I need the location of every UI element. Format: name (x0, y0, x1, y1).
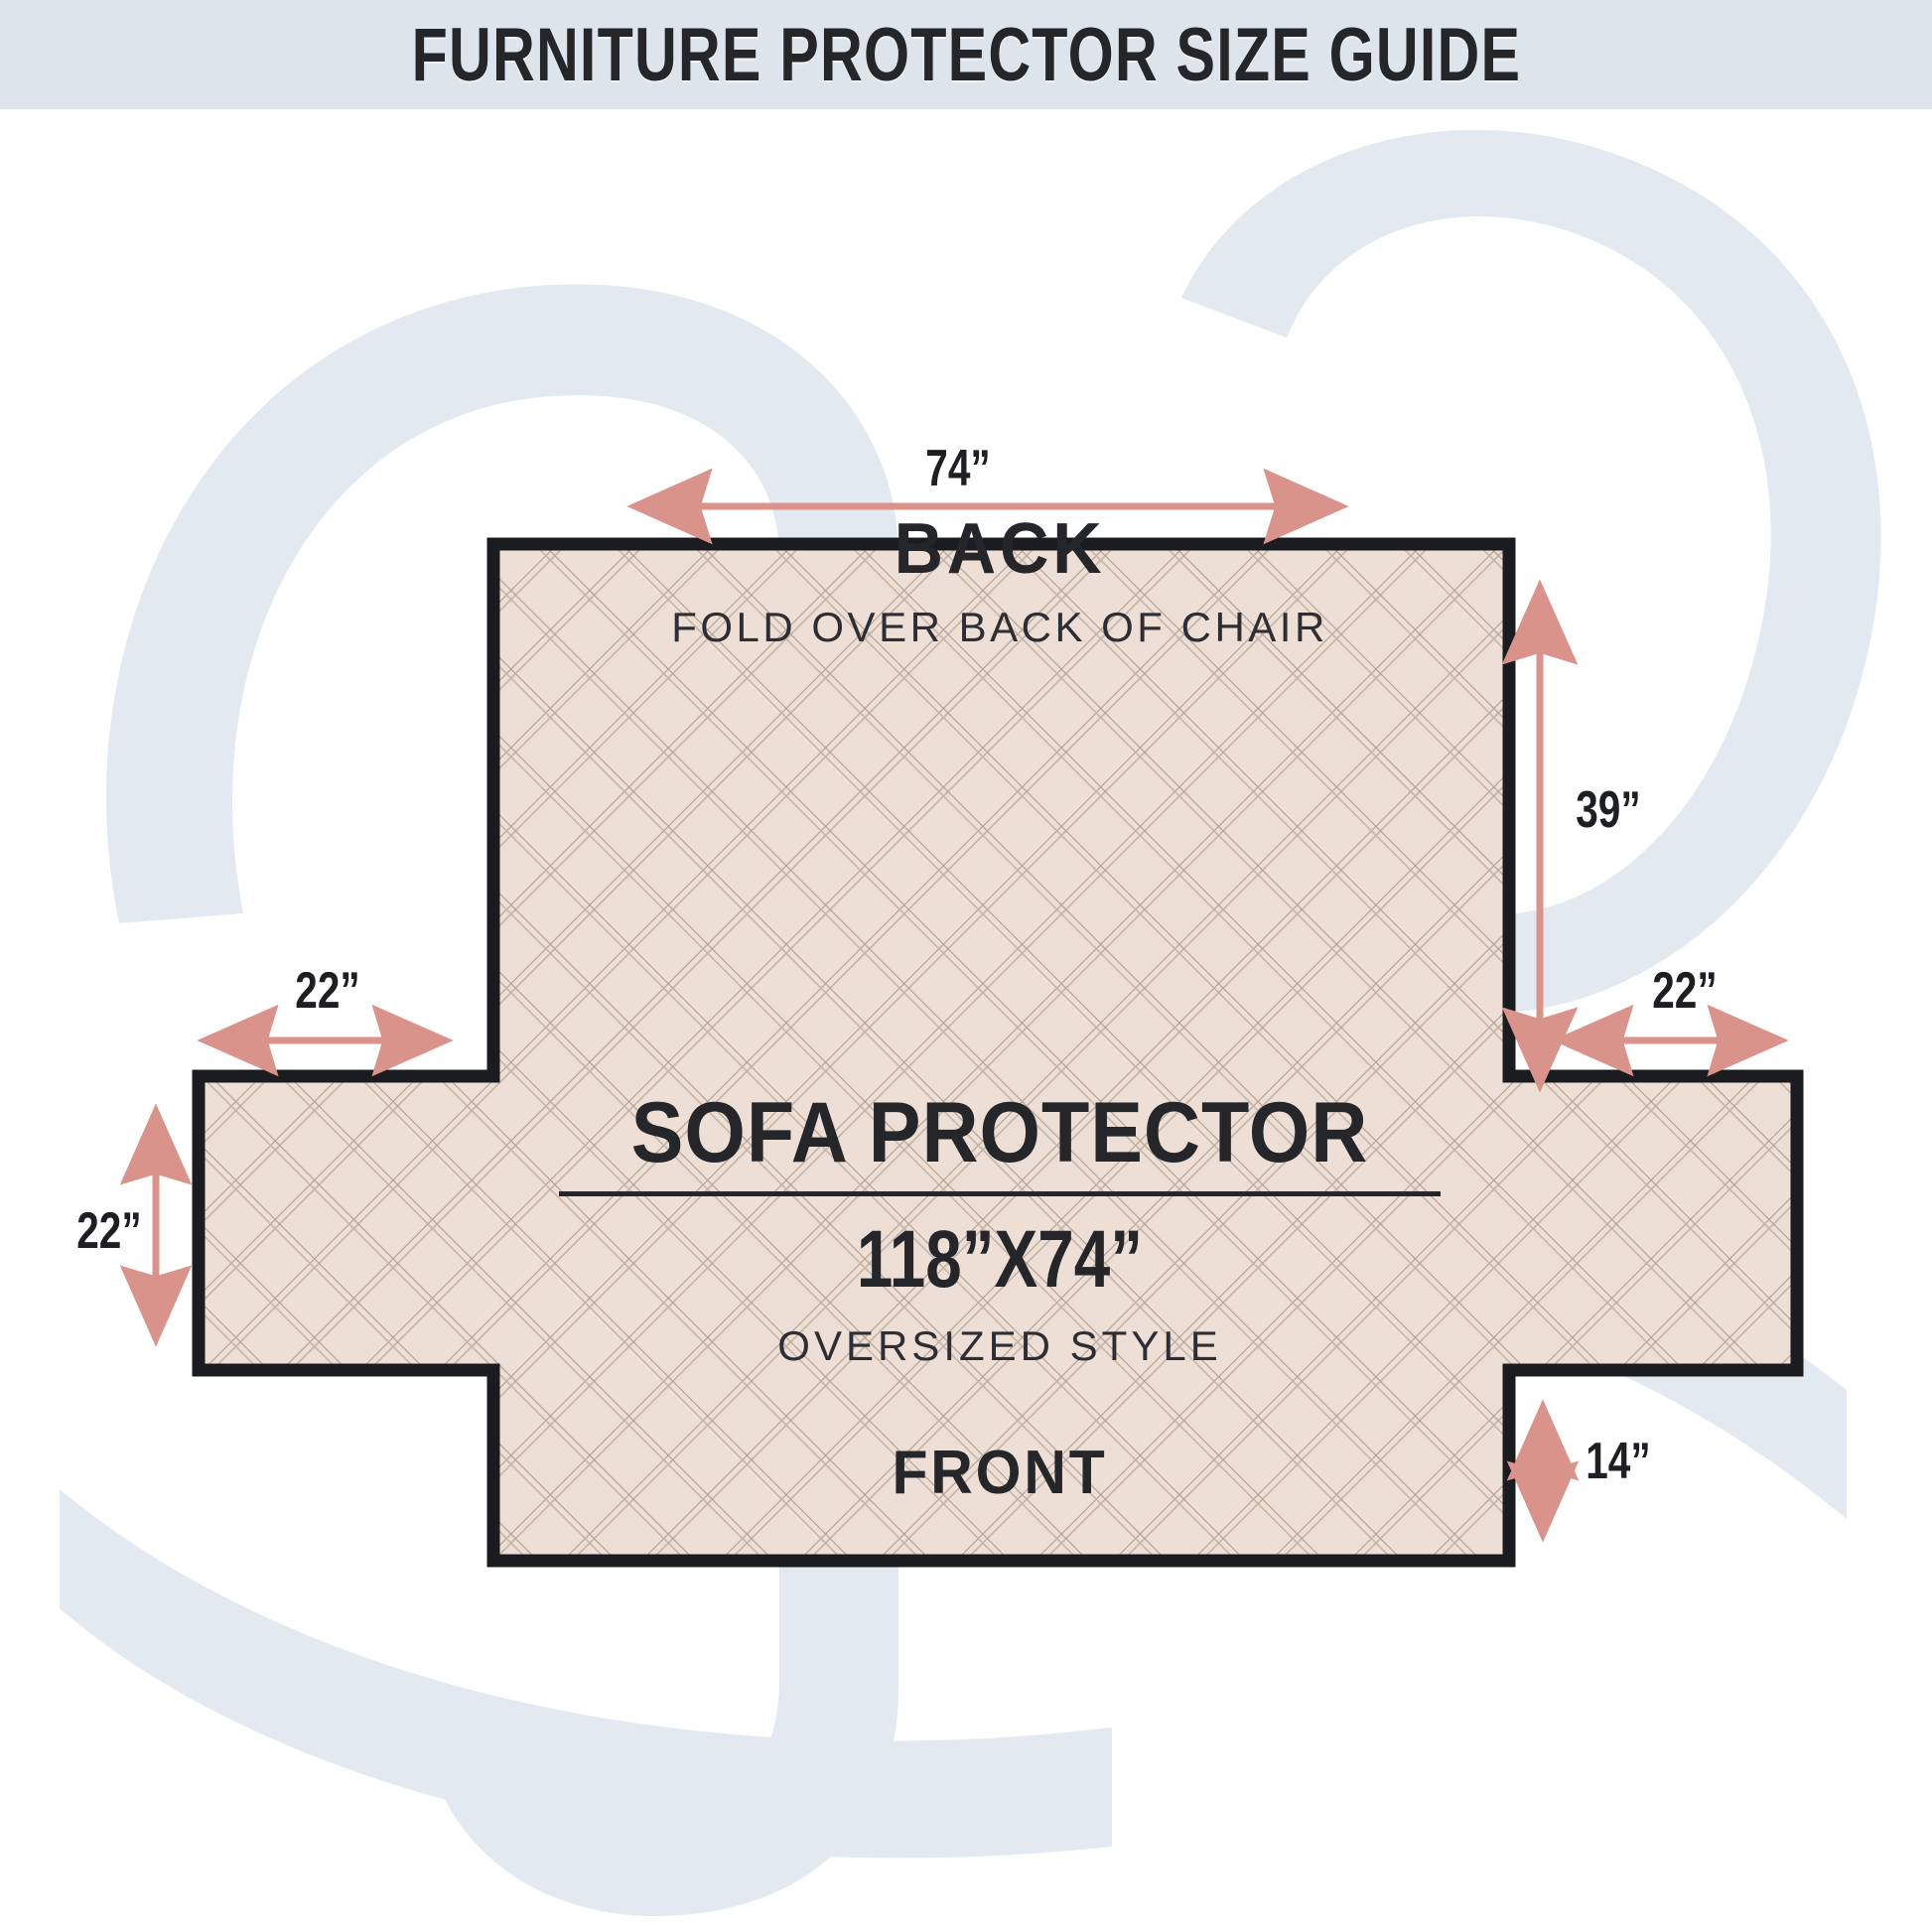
product-dimensions: 118”X74” (857, 1213, 1143, 1307)
dimension-arrows (0, 0, 1932, 1932)
title-divider (559, 1191, 1441, 1196)
dimension-label-front-drop: 14” (1586, 1432, 1650, 1491)
back-panel-sublabel: FOLD OVER BACK OF CHAIR (671, 604, 1328, 651)
front-panel-label: FRONT (892, 1438, 1107, 1508)
dimension-label-right-arm: 22” (1652, 961, 1717, 1021)
back-panel-label: BACK (895, 508, 1106, 590)
header-banner: FURNITURE PROTECTOR SIZE GUIDE (0, 0, 1932, 109)
dimension-label-back-height: 39” (1576, 780, 1640, 840)
arrow-back-height (1508, 588, 1572, 1084)
dimension-label-top-width: 74” (925, 439, 990, 498)
brand-watermark (0, 0, 1932, 1932)
product-title: SOFA PROTECTOR (631, 1084, 1369, 1182)
protector-shape (0, 0, 1932, 1932)
dimension-label-arm-drop: 22” (76, 1201, 141, 1261)
product-style: OVERSIZED STYLE (777, 1322, 1221, 1370)
dimension-label-left-arm: 22” (295, 961, 359, 1021)
size-guide-canvas: FURNITURE PROTECTOR SIZE GUIDE (0, 0, 1932, 1932)
arrow-front-drop-height (1513, 1408, 1573, 1534)
page-title: FURNITURE PROTECTOR SIZE GUIDE (411, 12, 1521, 98)
